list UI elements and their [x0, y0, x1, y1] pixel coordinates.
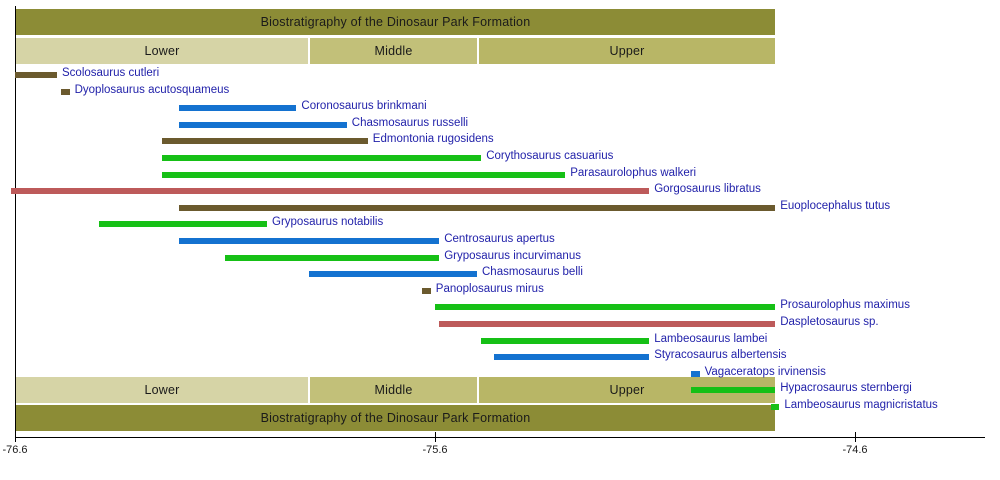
taxon-range-label: Edmontonia rugosidens	[373, 132, 494, 146]
header-title-band: Biostratigraphy of the Dinosaur Park For…	[15, 8, 776, 36]
taxon-range-row: Euoplocephalus tutus	[0, 201, 1000, 215]
taxon-range-label: Styracosaurus albertensis	[654, 348, 786, 362]
taxon-range-row: Styracosaurus albertensis	[0, 350, 1000, 364]
taxon-range-label: Daspletosaurus sp.	[780, 315, 878, 329]
taxon-range-row: Daspletosaurus sp.	[0, 317, 1000, 331]
taxon-range-label: Gryposaurus notabilis	[272, 215, 383, 229]
taxon-range-row: Prosaurolophus maximus	[0, 300, 1000, 314]
taxon-range-label: Coronosaurus brinkmani	[301, 99, 426, 113]
taxon-range-bar[interactable]	[61, 89, 69, 95]
taxon-range-label: Lambeosaurus magnicristatus	[784, 398, 937, 412]
header-stage-upper: Upper	[478, 37, 776, 65]
x-axis-tick	[435, 432, 436, 442]
taxon-range-label: Chasmosaurus belli	[482, 265, 583, 279]
taxon-range-label: Euoplocephalus tutus	[780, 199, 890, 213]
taxon-range-label: Lambeosaurus lambei	[654, 332, 767, 346]
taxon-range-label: Vagaceratops irvinensis	[705, 365, 826, 379]
x-axis-tick-label: -74.6	[842, 444, 867, 456]
taxon-range-bar[interactable]	[162, 172, 565, 178]
taxon-range-row: Scolosaurus cutleri	[0, 68, 1000, 82]
taxon-range-label: Prosaurolophus maximus	[780, 298, 910, 312]
taxon-range-bar[interactable]	[15, 72, 57, 78]
taxon-range-bar[interactable]	[422, 288, 430, 294]
taxon-range-row: Gryposaurus notabilis	[0, 217, 1000, 231]
header-stage-lower-label: Lower	[144, 44, 179, 58]
taxon-range-row: Coronosaurus brinkmani	[0, 101, 1000, 115]
taxon-range-bar[interactable]	[435, 304, 775, 310]
taxon-range-row: Gryposaurus incurvimanus	[0, 251, 1000, 265]
x-axis-tick	[855, 432, 856, 442]
taxon-range-bar[interactable]	[11, 188, 649, 194]
taxon-range-bar[interactable]	[179, 238, 439, 244]
x-axis-tick	[15, 432, 16, 442]
taxon-range-row: Parasaurolophus walkeri	[0, 168, 1000, 182]
taxon-range-label: Corythosaurus casuarius	[486, 149, 613, 163]
taxon-range-row: Chasmosaurus belli	[0, 267, 1000, 281]
header-stage-middle-label: Middle	[374, 44, 412, 58]
taxon-range-bar[interactable]	[179, 122, 347, 128]
taxon-range-bar[interactable]	[494, 354, 649, 360]
taxon-range-label: Hypacrosaurus sternbergi	[780, 381, 912, 395]
header-stage-middle: Middle	[309, 37, 478, 65]
taxon-range-label: Dyoplosaurus acutosquameus	[75, 83, 230, 97]
taxon-range-bar[interactable]	[162, 155, 481, 161]
taxon-range-bar[interactable]	[481, 338, 649, 344]
taxon-range-row: Dyoplosaurus acutosquameus	[0, 85, 1000, 99]
taxon-range-label: Scolosaurus cutleri	[62, 66, 159, 80]
x-axis-tick-label: -76.6	[2, 444, 27, 456]
taxon-range-label: Centrosaurus apertus	[444, 232, 555, 246]
taxon-range-row: Edmontonia rugosidens	[0, 134, 1000, 148]
taxon-range-row: Centrosaurus apertus	[0, 234, 1000, 248]
header-stage-lower: Lower	[15, 37, 309, 65]
header-stage-upper-label: Upper	[609, 44, 644, 58]
taxon-range-row: Hypacrosaurus sternbergi	[0, 383, 1000, 397]
header-title-text: Biostratigraphy of the Dinosaur Park For…	[261, 15, 531, 29]
taxon-range-bar[interactable]	[691, 387, 775, 393]
taxon-range-bar[interactable]	[439, 321, 775, 327]
biostratigraphy-chart: Biostratigraphy of the Dinosaur Park For…	[0, 0, 1000, 480]
taxon-range-row: Lambeosaurus magnicristatus	[0, 400, 1000, 414]
taxon-range-row: Panoplosaurus mirus	[0, 284, 1000, 298]
taxon-range-label: Gryposaurus incurvimanus	[444, 249, 581, 263]
taxon-range-label: Panoplosaurus mirus	[436, 282, 544, 296]
x-axis-line	[15, 437, 985, 438]
taxon-range-label: Gorgosaurus libratus	[654, 182, 761, 196]
taxon-range-bar[interactable]	[225, 255, 439, 261]
taxon-range-row: Gorgosaurus libratus	[0, 184, 1000, 198]
taxon-range-bar[interactable]	[771, 404, 779, 410]
taxon-range-bar[interactable]	[99, 221, 267, 227]
taxon-range-bar[interactable]	[179, 105, 297, 111]
taxon-range-bar[interactable]	[309, 271, 477, 277]
taxon-range-bar[interactable]	[162, 138, 368, 144]
taxon-range-label: Chasmosaurus russelli	[352, 116, 468, 130]
taxon-range-row: Corythosaurus casuarius	[0, 151, 1000, 165]
taxon-range-bar[interactable]	[179, 205, 775, 211]
x-axis-tick-label: -75.6	[422, 444, 447, 456]
taxon-range-row: Vagaceratops irvinensis	[0, 367, 1000, 381]
taxon-range-row: Chasmosaurus russelli	[0, 118, 1000, 132]
taxon-range-label: Parasaurolophus walkeri	[570, 166, 696, 180]
taxon-range-bar[interactable]	[691, 371, 699, 377]
taxon-range-row: Lambeosaurus lambei	[0, 334, 1000, 348]
